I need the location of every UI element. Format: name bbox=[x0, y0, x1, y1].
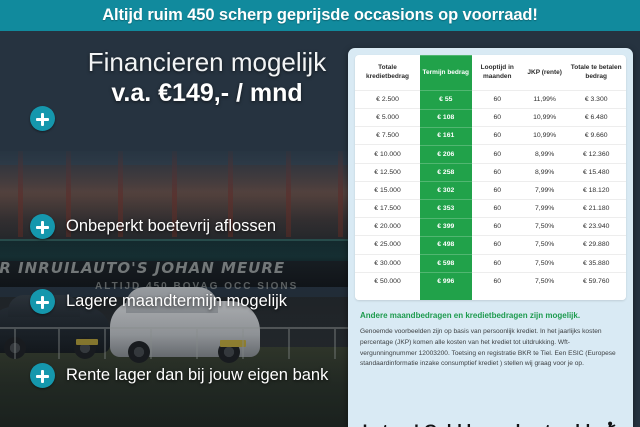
cell-totaal: € 29.880 bbox=[566, 236, 626, 254]
promo-left-column: Financieren mogelijk v.a. €149,- / mnd O… bbox=[0, 31, 352, 427]
cell-krediet: € 30.000 bbox=[355, 254, 420, 272]
disclaimer-title: Andere maandbedragen en kredietbedragen … bbox=[360, 311, 621, 321]
cell-jkp: 7,50% bbox=[523, 218, 566, 236]
cell-krediet: € 25.000 bbox=[355, 236, 420, 254]
table-row: € 5.000€ 1086010,99%€ 6.480 bbox=[355, 109, 626, 127]
cell-totaal: € 23.940 bbox=[566, 218, 626, 236]
table-row: € 17.500€ 353607,99%€ 21.180 bbox=[355, 199, 626, 217]
cell-totaal: € 15.480 bbox=[566, 163, 626, 181]
plus-icon bbox=[30, 214, 55, 239]
table-row: € 50.000€ 996607,50%€ 59.760 bbox=[355, 272, 626, 291]
cell-looptijd: 60 bbox=[472, 181, 523, 199]
cell-totaal: € 18.120 bbox=[566, 181, 626, 199]
table-row: € 15.000€ 302607,99%€ 18.120 bbox=[355, 181, 626, 199]
table-row: € 2.500€ 556011,99%€ 3.300 bbox=[355, 90, 626, 108]
cell-looptijd: 60 bbox=[472, 109, 523, 127]
cell-krediet: € 12.500 bbox=[355, 163, 420, 181]
cell-krediet: € 7.500 bbox=[355, 127, 420, 145]
cell-termijn: € 996 bbox=[420, 272, 471, 291]
promo-headline: Financieren mogelijk v.a. €149,- / mnd bbox=[62, 49, 352, 107]
cell-krediet: € 15.000 bbox=[355, 181, 420, 199]
cell-jkp: 11,99% bbox=[523, 90, 566, 108]
cell-looptijd: 60 bbox=[472, 145, 523, 163]
cell-termijn: € 55 bbox=[420, 90, 471, 108]
cell-totaal: € 9.660 bbox=[566, 127, 626, 145]
cell-totaal: € 6.480 bbox=[566, 109, 626, 127]
cell-totaal: € 59.760 bbox=[566, 272, 626, 291]
promo-bullet-maandtermijn: Lagere maandtermijn mogelijk bbox=[30, 289, 287, 314]
disclaimer-block: Andere maandbedragen en kredietbedragen … bbox=[348, 300, 633, 370]
promo-headline-line1: Financieren mogelijk bbox=[62, 49, 352, 76]
cell-termijn: € 161 bbox=[420, 127, 471, 145]
column-header-termijn: Termijn bedrag bbox=[420, 55, 471, 90]
cell-jkp: 10,99% bbox=[523, 109, 566, 127]
cell-krediet: € 5.000 bbox=[355, 109, 420, 127]
plus-icon bbox=[30, 289, 55, 314]
warning-block: Let op! Geld lenen kost geld bbox=[348, 421, 633, 427]
cell-jkp: 7,50% bbox=[523, 254, 566, 272]
financing-card: Totale kredietbedrag Termijn bedrag Loop… bbox=[348, 48, 633, 427]
column-header-totaal: Totale te betalen bedrag bbox=[566, 55, 626, 90]
table-row: € 20.000€ 399607,50%€ 23.940 bbox=[355, 218, 626, 236]
cell-krediet: € 2.500 bbox=[355, 90, 420, 108]
ball-and-chain-walking-person-icon bbox=[594, 421, 618, 427]
cell-totaal: € 21.180 bbox=[566, 199, 626, 217]
main-stage: ER INRUILAUTO'S JOHAN MEURE ALTIJD 450 B… bbox=[0, 31, 640, 427]
promo-headline-line2: v.a. €149,- / mnd bbox=[62, 80, 352, 106]
cell-termijn: € 206 bbox=[420, 145, 471, 163]
cell-looptijd: 60 bbox=[472, 272, 523, 291]
promo-bullet-aflossen: Onbeperkt boetevrij aflossen bbox=[30, 214, 276, 239]
cell-krediet: € 50.000 bbox=[355, 272, 420, 291]
disclaimer-body: Genoemde voorbeelden zijn op basis van p… bbox=[360, 327, 621, 370]
warning-text: Let op! Geld lenen kost geld bbox=[363, 421, 591, 427]
plus-icon bbox=[30, 106, 55, 131]
cell-totaal: € 35.880 bbox=[566, 254, 626, 272]
table-footer-spacer bbox=[355, 291, 626, 300]
column-header-looptijd: Looptijd in maanden bbox=[472, 55, 523, 90]
cell-jkp: 8,99% bbox=[523, 145, 566, 163]
cell-krediet: € 10.000 bbox=[355, 145, 420, 163]
cell-termijn: € 258 bbox=[420, 163, 471, 181]
column-header-jkp: JKP (rente) bbox=[523, 55, 566, 90]
financing-table-container: Totale kredietbedrag Termijn bedrag Loop… bbox=[355, 55, 626, 300]
financing-table: Totale kredietbedrag Termijn bedrag Loop… bbox=[355, 55, 626, 291]
table-header-row: Totale kredietbedrag Termijn bedrag Loop… bbox=[355, 55, 626, 90]
promo-bullet-label: Rente lager dan bij jouw eigen bank bbox=[66, 366, 328, 385]
cell-totaal: € 12.360 bbox=[566, 145, 626, 163]
cell-looptijd: 60 bbox=[472, 163, 523, 181]
table-row: € 12.500€ 258608,99%€ 15.480 bbox=[355, 163, 626, 181]
cell-looptijd: 60 bbox=[472, 199, 523, 217]
cell-jkp: 8,99% bbox=[523, 163, 566, 181]
promo-bullet-label: Lagere maandtermijn mogelijk bbox=[66, 292, 287, 311]
cell-jkp: 7,99% bbox=[523, 199, 566, 217]
cell-totaal: € 3.300 bbox=[566, 90, 626, 108]
promo-bullet-label: Onbeperkt boetevrij aflossen bbox=[66, 217, 276, 236]
table-row: € 25.000€ 498607,50%€ 29.880 bbox=[355, 236, 626, 254]
column-header-krediet: Totale kredietbedrag bbox=[355, 55, 420, 90]
cell-termijn: € 598 bbox=[420, 254, 471, 272]
cell-jkp: 7,99% bbox=[523, 181, 566, 199]
cell-termijn: € 353 bbox=[420, 199, 471, 217]
cell-termijn: € 498 bbox=[420, 236, 471, 254]
table-row: € 30.000€ 598607,50%€ 35.880 bbox=[355, 254, 626, 272]
cell-termijn: € 108 bbox=[420, 109, 471, 127]
table-row: € 10.000€ 206608,99%€ 12.360 bbox=[355, 145, 626, 163]
cell-krediet: € 20.000 bbox=[355, 218, 420, 236]
promo-bullet-rente: Rente lager dan bij jouw eigen bank bbox=[30, 363, 328, 388]
promo-banner-text: Altijd ruim 450 scherp geprijsde occasio… bbox=[102, 6, 538, 25]
cell-jkp: 10,99% bbox=[523, 127, 566, 145]
cell-termijn: € 399 bbox=[420, 218, 471, 236]
table-body: € 2.500€ 556011,99%€ 3.300€ 5.000€ 10860… bbox=[355, 90, 626, 290]
plus-icon bbox=[30, 363, 55, 388]
cell-looptijd: 60 bbox=[472, 236, 523, 254]
cell-jkp: 7,50% bbox=[523, 236, 566, 254]
cell-looptijd: 60 bbox=[472, 127, 523, 145]
table-row: € 7.500€ 1616010,99%€ 9.660 bbox=[355, 127, 626, 145]
cell-looptijd: 60 bbox=[472, 218, 523, 236]
cell-termijn: € 302 bbox=[420, 181, 471, 199]
cell-looptijd: 60 bbox=[472, 254, 523, 272]
promo-banner: Altijd ruim 450 scherp geprijsde occasio… bbox=[0, 0, 640, 31]
cell-krediet: € 17.500 bbox=[355, 199, 420, 217]
cell-looptijd: 60 bbox=[472, 90, 523, 108]
cell-jkp: 7,50% bbox=[523, 272, 566, 291]
